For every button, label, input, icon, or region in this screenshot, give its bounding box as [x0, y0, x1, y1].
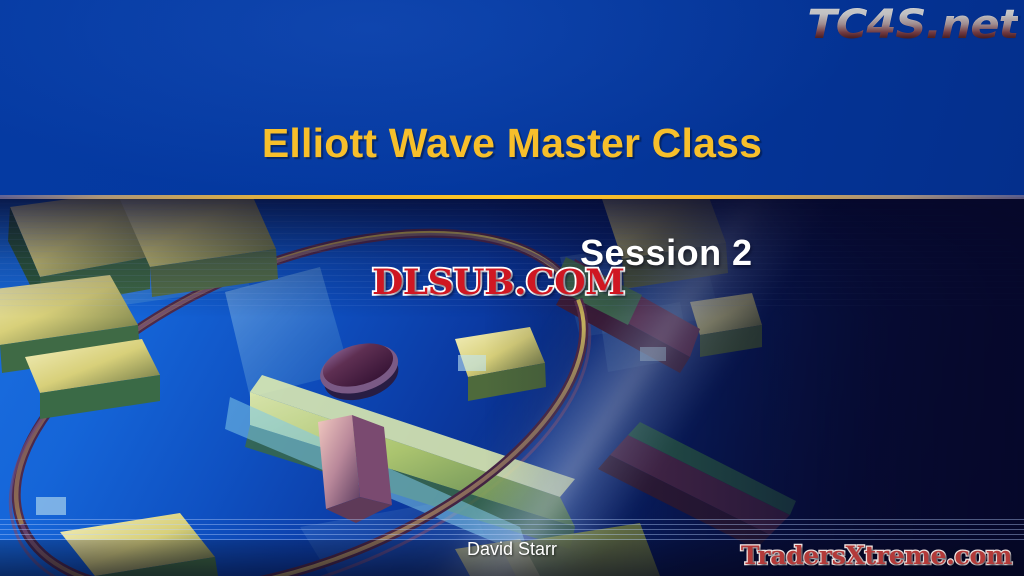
dlsub-watermark: DLSUB.COM — [372, 262, 624, 303]
tradersxtreme-logo: TradersXtreme.com — [741, 541, 1012, 570]
artwork-background — [0, 197, 1024, 576]
page-title: Elliott Wave Master Class — [0, 120, 1024, 167]
scanline-band-bottom — [0, 519, 1024, 541]
gold-divider-line — [0, 195, 1024, 199]
presentation-slide: Elliott Wave Master Class Session 2 Davi… — [0, 0, 1024, 576]
tc4s-watermark: TC4S.net — [807, 2, 1018, 48]
